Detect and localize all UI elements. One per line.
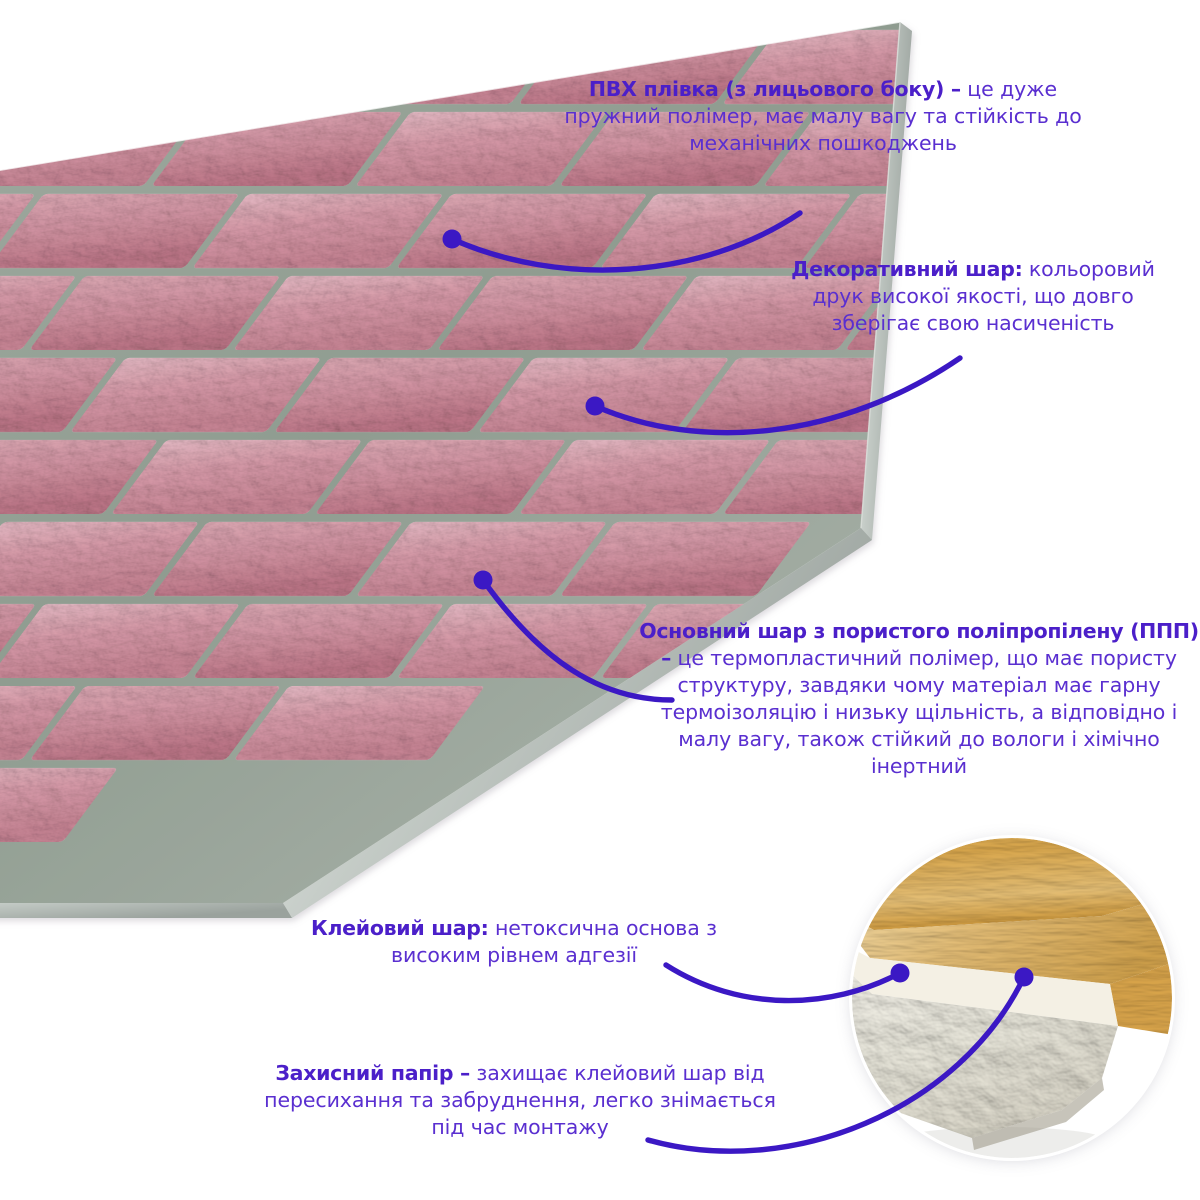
leader-line-decorative-layer — [595, 358, 960, 433]
base-layer-description: це термопластичний полімер, що має порис… — [661, 646, 1177, 778]
pvc-film-label: ПВХ плівка (з лицьового боку) – — [589, 77, 961, 101]
decorative-layer-callout: Декоративний шар: кольоровий друк високо… — [768, 256, 1178, 337]
leader-dot-decorative-layer — [586, 397, 605, 416]
protective-paper-callout: Захисний папір – захищає клейовий шар ві… — [248, 1060, 792, 1141]
adhesive-layer-label: Клейовий шар: — [311, 916, 489, 940]
decorative-layer-label: Декоративний шар: — [791, 257, 1022, 281]
protective-paper-label: Захисний папір – — [275, 1061, 470, 1085]
layer-cross-section-photo — [852, 838, 1172, 1158]
adhesive-layer-callout: Клейовий шар: нетоксична основа з високи… — [300, 915, 728, 969]
leader-line-pvc-film — [452, 213, 800, 270]
leader-dot-base-layer — [474, 571, 493, 590]
leader-dot-pvc-film — [443, 230, 462, 249]
base-layer-callout: Основний шар з пористого поліпропілену (… — [636, 618, 1200, 780]
pvc-film-callout: ПВХ плівка (з лицьового боку) – це дуже … — [556, 76, 1090, 157]
infographic-canvas: ПВХ плівка (з лицьового боку) – це дуже … — [0, 0, 1200, 1200]
